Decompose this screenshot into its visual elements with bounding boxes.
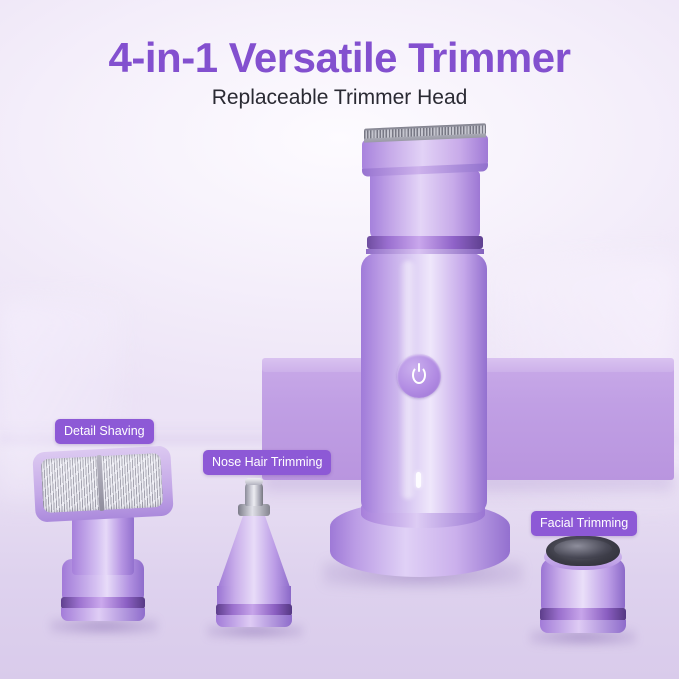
trimmer-main-body: [355, 126, 483, 556]
callout-nose-hair-trimming: Nose Hair Trimming: [203, 450, 331, 475]
nose-trimmer-base: [216, 615, 292, 627]
facial-trimmer-head: [528, 536, 638, 646]
callout-detail-shaving: Detail Shaving: [55, 419, 154, 444]
trimmer-neck: [370, 171, 480, 241]
callout-facial-trimming: Facial Trimming: [531, 511, 637, 536]
trimmer-accent-ring-lower: [366, 249, 484, 254]
page-title: 4-in-1 Versatile Trimmer: [0, 34, 679, 82]
product-photo-scene: 4-in-1 Versatile Trimmer Replaceable Tri…: [0, 0, 679, 679]
foil-shaver-base: [61, 608, 145, 621]
power-icon: [412, 366, 426, 384]
facial-trimmer-cutter-inner: [554, 539, 612, 559]
foil-shaver-neck: [72, 513, 134, 575]
nose-trimmer-head: [205, 480, 315, 630]
nose-trimmer-cone: [217, 514, 291, 590]
trimmer-accent-ring: [367, 236, 483, 249]
page-subtitle: Replaceable Trimmer Head: [0, 86, 679, 110]
foil-shaver-head: [30, 449, 175, 629]
facial-trimmer-base: [540, 620, 626, 633]
charging-led: [416, 472, 421, 488]
nose-trimmer-tip-cap: [245, 478, 263, 485]
